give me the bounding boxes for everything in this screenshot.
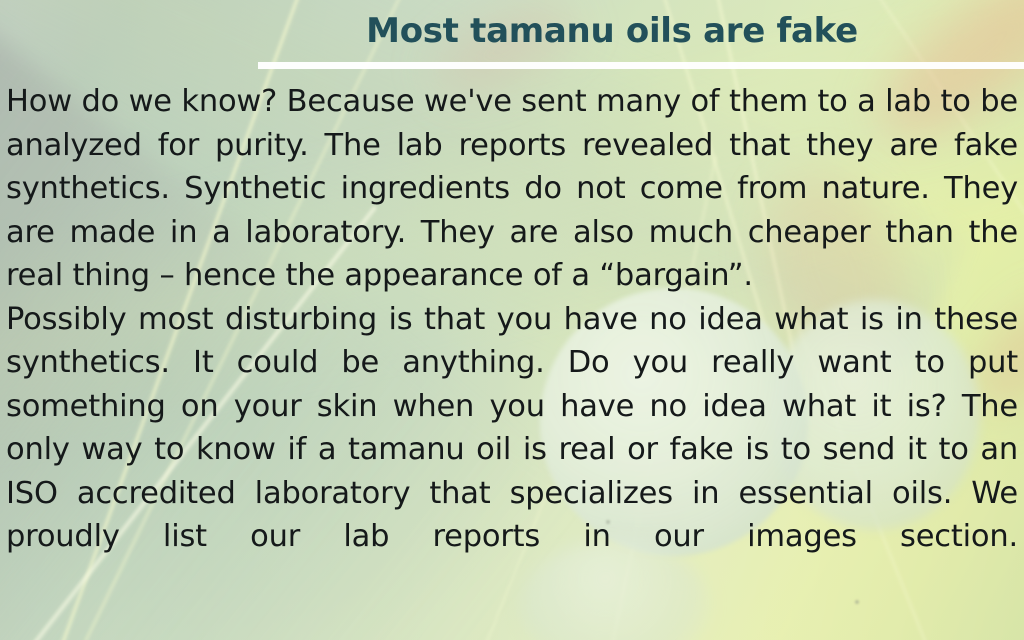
paragraph-2: Possibly most disturbing is that you hav…	[6, 298, 1018, 603]
page-title: Most tamanu oils are fake	[260, 14, 964, 48]
slide-container: Most tamanu oils are fake How do we know…	[0, 0, 1024, 640]
slide-content: Most tamanu oils are fake How do we know…	[0, 0, 1024, 640]
body-text: How do we know? Because we've sent many …	[6, 80, 1018, 602]
title-divider	[258, 62, 1024, 69]
paragraph-1: How do we know? Because we've sent many …	[6, 80, 1018, 298]
